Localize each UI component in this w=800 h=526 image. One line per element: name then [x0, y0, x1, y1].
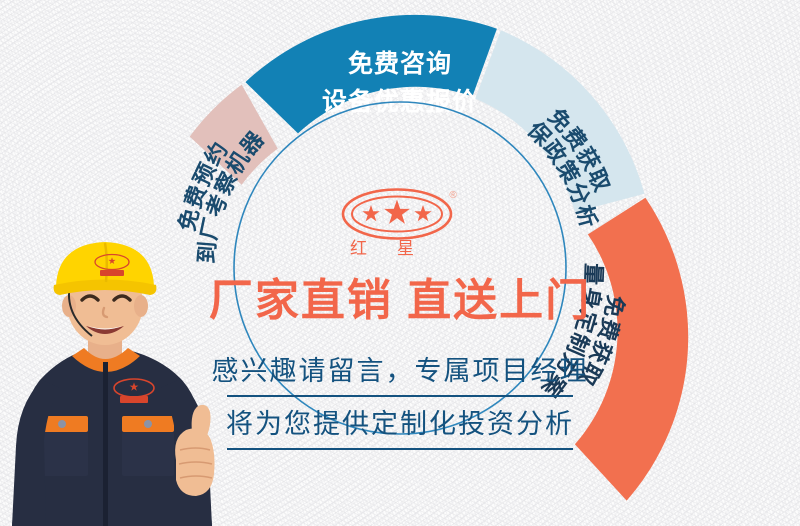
worker-placket — [103, 362, 108, 526]
promo-banner: 免费预约 到厂考察机器 免费咨询 设备优惠报价 免费获取 环保政策分析 — [0, 0, 800, 526]
worker-pocket-right-button — [144, 420, 152, 428]
page-title: 厂家直销 直送上门 — [196, 278, 604, 324]
subtitle-line-1: 感兴趣请留言，专属项目经理 — [196, 355, 604, 388]
hongxing-logo: ® 红星 — [337, 186, 463, 262]
worker-thumbs-up-photo — [0, 238, 250, 526]
center-content: ® 红星 厂家直销 直送上门 感兴趣请留言，专属项目经理 将为您提供定制化投资分… — [196, 178, 604, 458]
worker-chest-badge-text — [120, 396, 148, 403]
logo-registered-mark: ® — [449, 190, 457, 201]
worker-helmet-badge-text — [100, 270, 124, 276]
star-left-icon — [362, 205, 379, 221]
divider-middle — [227, 395, 573, 397]
star-center-icon — [384, 200, 410, 224]
arc-text-quote-line1: 免费咨询 — [348, 49, 452, 78]
worker-ear-right — [134, 295, 148, 317]
logo-stars — [362, 200, 431, 224]
arc-segment-quote[interactable]: 免费咨询 设备优惠报价 — [245, 15, 496, 134]
worker-pocket-right-body — [122, 432, 174, 476]
star-right-icon — [414, 205, 431, 221]
logo-wordmark: 红星 — [350, 239, 444, 258]
divider-bottom — [227, 448, 573, 450]
subtitle-line-2: 将为您提供定制化投资分析 — [196, 408, 604, 441]
worker-pocket-left-button — [58, 420, 66, 428]
